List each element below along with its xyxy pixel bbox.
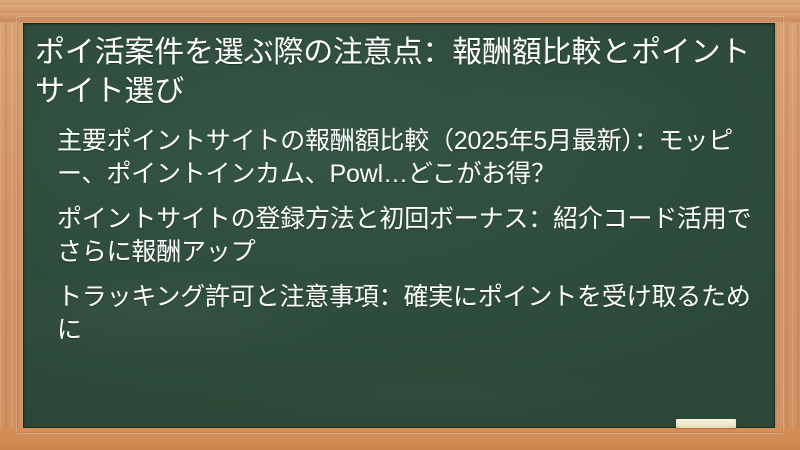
topic-list: 主要ポイントサイトの報酬額比較（2025年5月最新）：モッピー、ポイントインカム… [23,111,775,347]
list-item[interactable]: ポイントサイトの登録方法と初回ボーナス：紹介コード活用でさらに報酬アップ [57,203,759,269]
list-item[interactable]: 主要ポイントサイトの報酬額比較（2025年5月最新）：モッピー、ポイントインカム… [57,125,759,191]
chalkboard-slide: ポイ活案件を選ぶ際の注意点：報酬額比較とポイントサイト選び 主要ポイントサイトの… [0,0,800,450]
page-title: ポイ活案件を選ぶ際の注意点：報酬額比較とポイントサイト選び [23,23,775,111]
list-item[interactable]: トラッキング許可と注意事項：確実にポイントを受け取るために [57,281,759,347]
chalk-stick [676,419,736,428]
board-content: ポイ活案件を選ぶ際の注意点：報酬額比較とポイントサイト選び 主要ポイントサイトの… [23,23,775,359]
